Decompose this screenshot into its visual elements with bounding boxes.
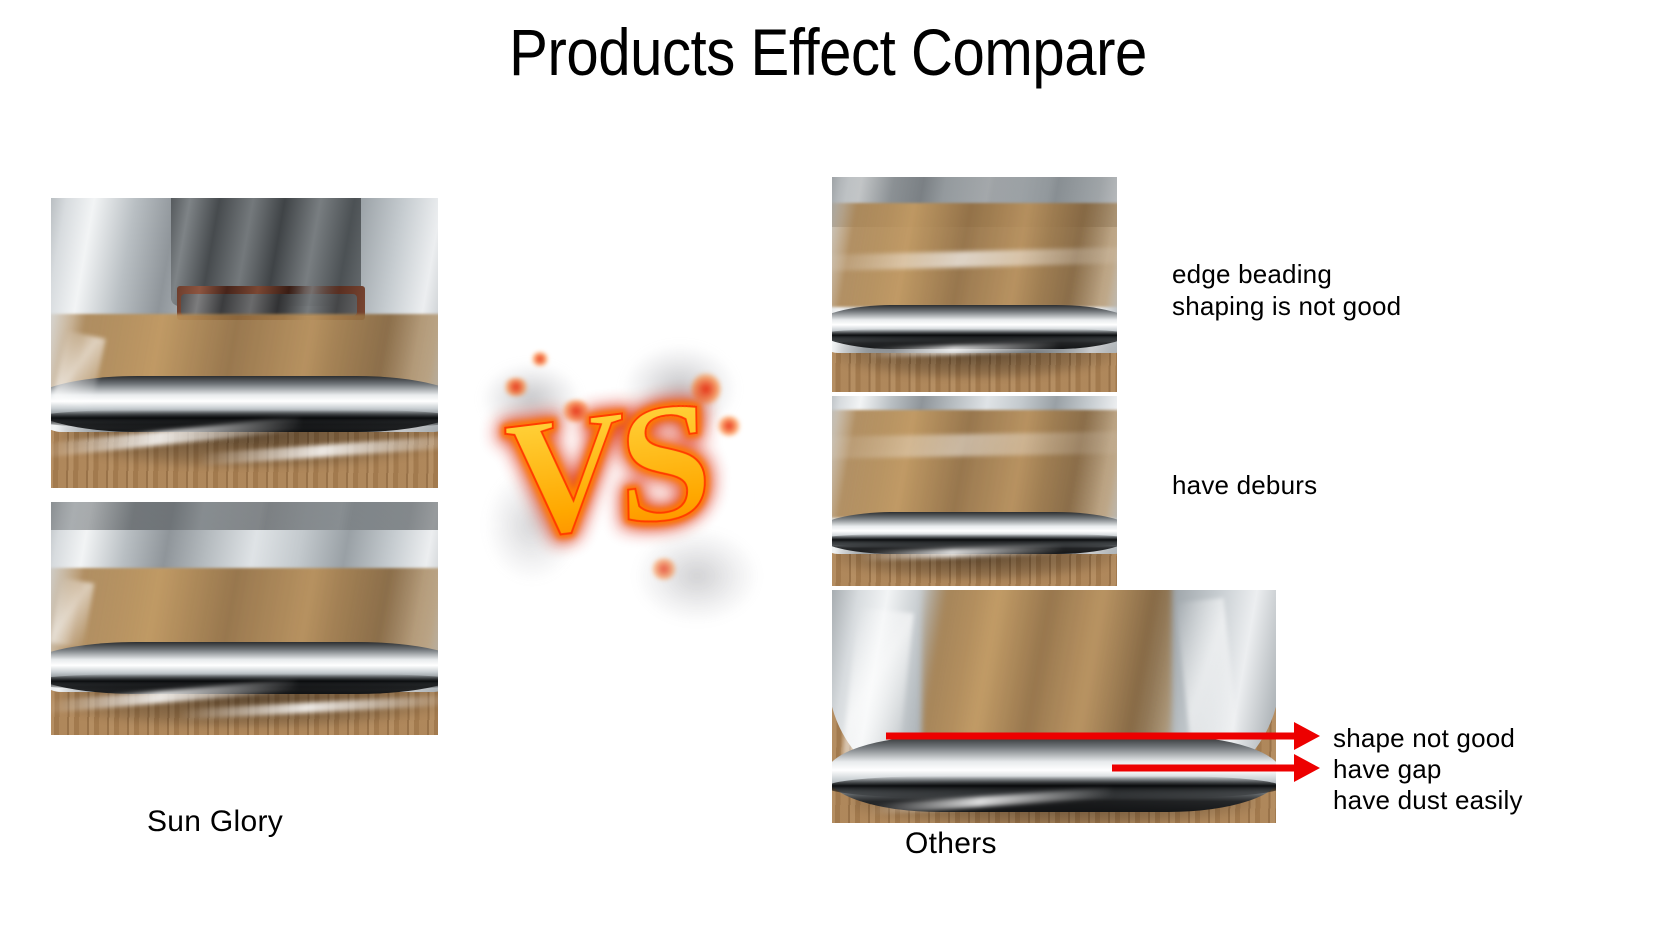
slide-canvas: Products Effect Compare xyxy=(0,0,1656,931)
right-column-label: Others xyxy=(905,826,997,862)
left-column-label: Sun Glory xyxy=(147,804,283,840)
page-title: Products Effect Compare xyxy=(99,14,1556,90)
others-photo-middle xyxy=(832,396,1117,586)
callout-have-deburs: have deburs xyxy=(1172,469,1317,501)
sun-glory-photo-top xyxy=(51,198,438,488)
callout-shape-not-good: shape not good xyxy=(1333,722,1515,754)
callout-have-gap: have gap xyxy=(1333,753,1442,785)
vs-badge-icon: VS VS VS xyxy=(455,320,755,620)
sun-glory-photo-bottom xyxy=(51,502,438,735)
vs-badge-core-layer: VS xyxy=(453,301,756,639)
others-photo-bottom xyxy=(832,590,1276,823)
callout-have-dust-easily: have dust easily xyxy=(1333,784,1523,816)
others-photo-top xyxy=(832,177,1117,392)
callout-edge-beading: edge beading shaping is not good xyxy=(1172,258,1401,322)
